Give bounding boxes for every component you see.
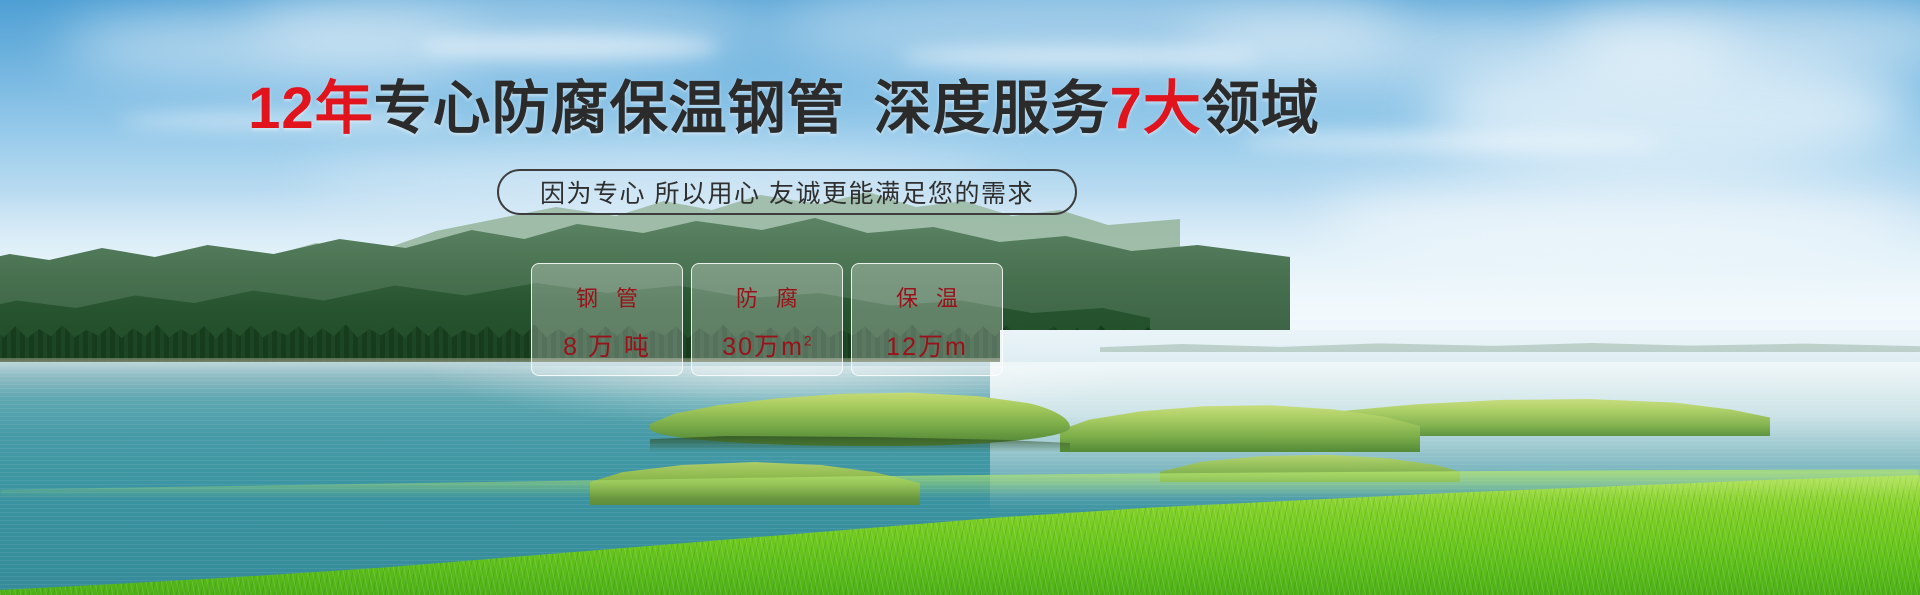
- stat-card-label: 钢 管: [570, 281, 644, 313]
- headline-accent-fields: 7大: [1110, 76, 1202, 141]
- stat-value-text: 30万m: [722, 333, 804, 361]
- stat-card-insulation: 保 温 12万m: [851, 263, 1003, 376]
- stat-card-value: 8 万 吨: [563, 327, 651, 363]
- stat-card-label: 防 腐: [730, 281, 804, 313]
- headline-accent-years: 12年: [248, 76, 374, 141]
- headline-main-second: 深度服务: [874, 76, 1110, 141]
- stat-card-steel-pipe: 钢 管 8 万 吨: [531, 263, 683, 376]
- stat-value-superscript: 2: [804, 332, 812, 348]
- stat-card-value: 30万m2: [722, 327, 811, 363]
- headline-main-third: 领域: [1202, 76, 1320, 141]
- promo-banner: 12年专心防腐保温钢管深度服务7大领域 因为专心 所以用心 友诚更能满足您的需求…: [0, 0, 1920, 595]
- stat-card-anticorrosion: 防 腐 30万m2: [691, 263, 843, 376]
- stat-value-text: 12万m: [886, 333, 968, 361]
- stat-card-value: 12万m: [886, 327, 968, 363]
- stat-card-label: 保 温: [890, 281, 964, 313]
- banner-headline: 12年专心防腐保温钢管深度服务7大领域: [0, 78, 1568, 141]
- stat-value-text: 8 万 吨: [563, 333, 651, 361]
- subtitle-pill: 因为专心 所以用心 友诚更能满足您的需求: [497, 169, 1077, 215]
- headline-main-first: 专心防腐保温钢管: [374, 76, 846, 141]
- stat-card-group: 钢 管 8 万 吨 防 腐 30万m2 保 温 12万m: [531, 263, 1003, 376]
- subtitle-text: 因为专心 所以用心 友诚更能满足您的需求: [540, 174, 1034, 210]
